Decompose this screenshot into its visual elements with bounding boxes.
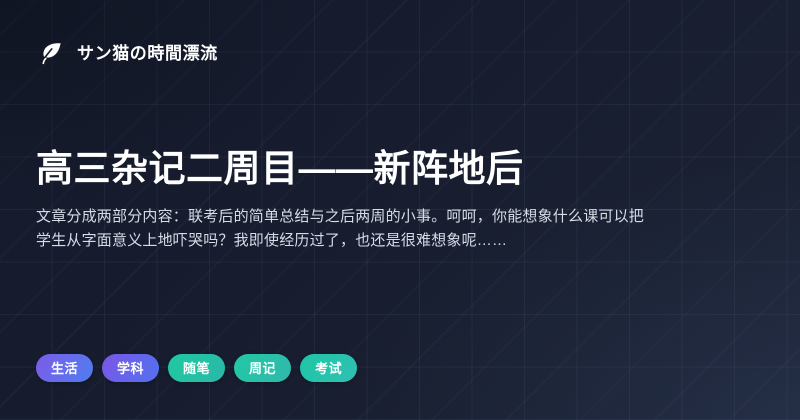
tag-item[interactable]: 随笔 [168, 354, 225, 382]
site-header[interactable]: サン猫の時間漂流 [36, 38, 218, 68]
site-name-label: サン猫の時間漂流 [77, 45, 218, 62]
tag-list: 生活学科随笔周记考试 [36, 354, 357, 382]
page-description: 文章分成两部分内容：联考后的简单总结与之后两周的小事。呵呵，你能想象什么课可以把… [36, 205, 648, 253]
tag-item[interactable]: 周记 [234, 354, 291, 382]
hero-content: 高三杂记二周目——新阵地后 文章分成两部分内容：联考后的简单总结与之后两周的小事… [36, 148, 666, 253]
page-title: 高三杂记二周目——新阵地后 [36, 148, 666, 189]
tag-item[interactable]: 学科 [102, 354, 159, 382]
article-hero-banner: サン猫の時間漂流 高三杂记二周目——新阵地后 文章分成两部分内容：联考后的简单总… [0, 0, 800, 420]
leaf-icon [36, 38, 66, 68]
tag-item[interactable]: 生活 [36, 354, 93, 382]
tag-item[interactable]: 考试 [300, 354, 357, 382]
